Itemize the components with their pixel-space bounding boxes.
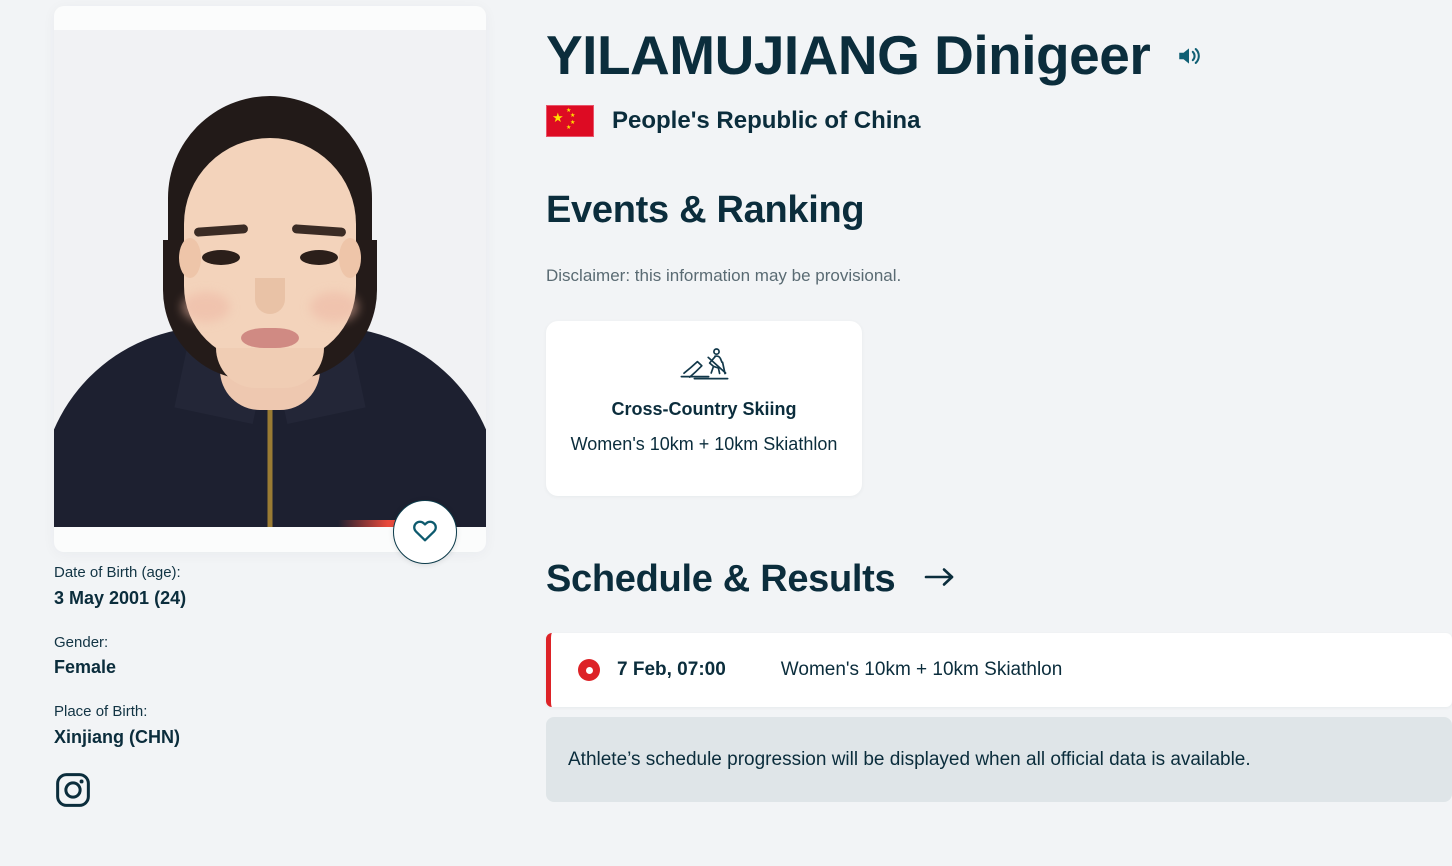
social-links xyxy=(54,771,474,814)
schedule-results-link[interactable]: Schedule & Results xyxy=(546,558,1452,601)
bio-row-pob: Place of Birth: Xinjiang (CHN) xyxy=(54,701,474,751)
event-card-list: Cross-Country Skiing Women's 10km + 10km… xyxy=(546,321,1452,496)
event-card[interactable]: Cross-Country Skiing Women's 10km + 10km… xyxy=(546,321,862,496)
speaker-icon xyxy=(1176,44,1202,73)
event-sport-name: Cross-Country Skiing xyxy=(611,399,796,420)
schedule-event: Women's 10km + 10km Skiathlon xyxy=(781,659,1063,681)
athlete-name-row: YILAMUJIANG Dinigeer xyxy=(546,26,1452,85)
athlete-profile-page: Date of Birth (age): 3 May 2001 (24) Gen… xyxy=(0,0,1452,866)
page-title: YILAMUJIANG Dinigeer xyxy=(546,26,1150,85)
bio-row-dob: Date of Birth (age): 3 May 2001 (24) xyxy=(54,562,474,612)
bio-row-gender: Gender: Female xyxy=(54,632,474,682)
schedule-time: 7 Feb, 07:00 xyxy=(617,659,726,681)
schedule-row[interactable]: 7 Feb, 07:00 Women's 10km + 10km Skiathl… xyxy=(546,633,1452,707)
events-disclaimer: Disclaimer: this information may be prov… xyxy=(546,266,1452,286)
left-column: Date of Birth (age): 3 May 2001 (24) Gen… xyxy=(0,0,520,866)
arrow-right-icon xyxy=(923,565,957,594)
china-flag-icon: ★ ★ ★ ★ ★ xyxy=(546,105,594,137)
live-dot-icon xyxy=(578,659,600,681)
pronunciation-button[interactable] xyxy=(1176,44,1202,73)
instagram-link[interactable] xyxy=(54,771,92,814)
country-row: ★ ★ ★ ★ ★ People's Republic of China xyxy=(546,105,1452,137)
schedule-info-note: Athlete’s schedule progression will be d… xyxy=(546,717,1452,802)
athlete-photo xyxy=(54,30,486,527)
athlete-bio: Date of Birth (age): 3 May 2001 (24) Gen… xyxy=(54,562,474,814)
events-section-title: Events & Ranking xyxy=(546,189,1452,232)
pob-value: Xinjiang (CHN) xyxy=(54,724,474,751)
event-discipline-name: Women's 10km + 10km Skiathlon xyxy=(571,434,838,455)
cross-country-skiing-icon xyxy=(678,347,730,381)
right-column: YILAMUJIANG Dinigeer ★ ★ ★ ★ ★ Peopl xyxy=(546,0,1452,866)
country-name: People's Republic of China xyxy=(612,107,920,135)
dob-value: 3 May 2001 (24) xyxy=(54,585,474,612)
dob-label: Date of Birth (age): xyxy=(54,562,474,585)
schedule-section-title: Schedule & Results xyxy=(546,558,895,601)
favorite-button[interactable] xyxy=(393,500,457,564)
heart-icon xyxy=(412,518,438,547)
instagram-icon xyxy=(54,771,92,814)
pob-label: Place of Birth: xyxy=(54,701,474,724)
gender-value: Female xyxy=(54,654,474,681)
gender-label: Gender: xyxy=(54,632,474,655)
schedule-info-text: Athlete’s schedule progression will be d… xyxy=(568,749,1251,771)
portrait-illustration xyxy=(54,30,486,527)
